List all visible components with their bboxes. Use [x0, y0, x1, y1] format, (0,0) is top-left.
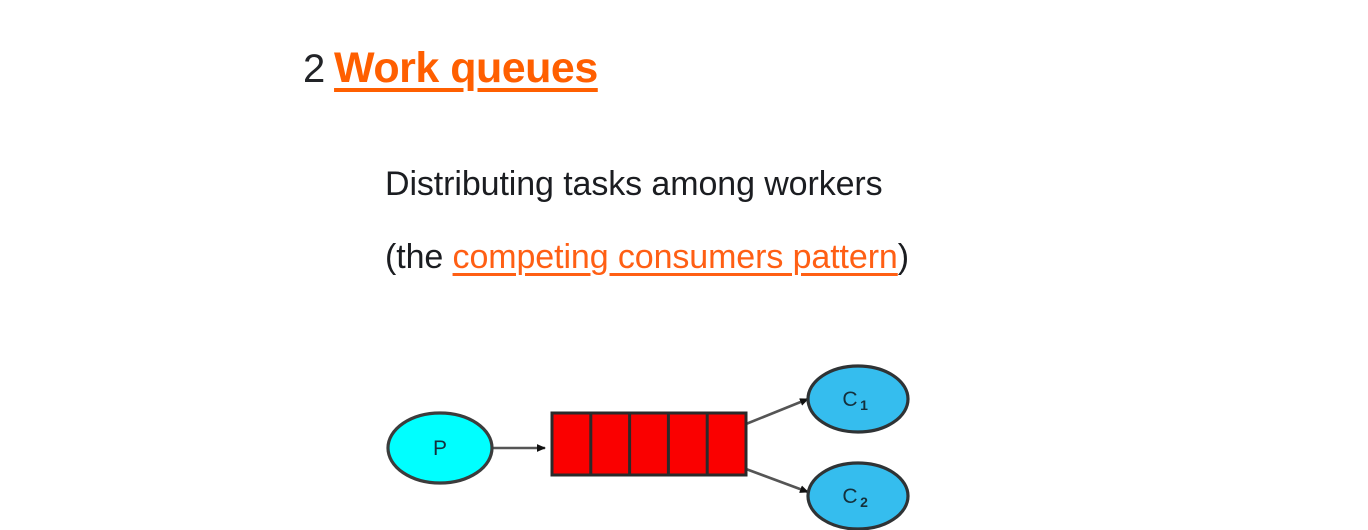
slide-canvas: 2Work queues Distributing tasks among wo…	[0, 0, 1368, 527]
arrow-queue-to-consumer-1	[746, 399, 808, 424]
paragraph-text-after: )	[898, 238, 909, 276]
arrow-queue-to-consumer-2	[746, 469, 808, 492]
competing-consumers-link[interactable]: competing consumers pattern	[453, 238, 898, 276]
consumer-1-subscript: 1	[860, 397, 868, 413]
body-paragraph: Distributing tasks among workers (the co…	[385, 148, 925, 294]
consumer-2-label: C	[842, 485, 857, 508]
work-queue-diagram: P C 1 C 2	[380, 352, 940, 527]
queue-box[interactable]	[552, 413, 746, 475]
consumer-1-label: C	[842, 388, 857, 411]
page-heading: 2Work queues	[303, 42, 598, 95]
consumer-1-node[interactable]: C 1	[808, 366, 908, 432]
heading-number: 2	[303, 47, 325, 91]
producer-label: P	[433, 437, 447, 460]
consumer-2-node[interactable]: C 2	[808, 463, 908, 529]
heading-title-link[interactable]: Work queues	[334, 44, 598, 92]
consumer-2-subscript: 2	[860, 494, 868, 510]
producer-node[interactable]: P	[388, 413, 492, 483]
